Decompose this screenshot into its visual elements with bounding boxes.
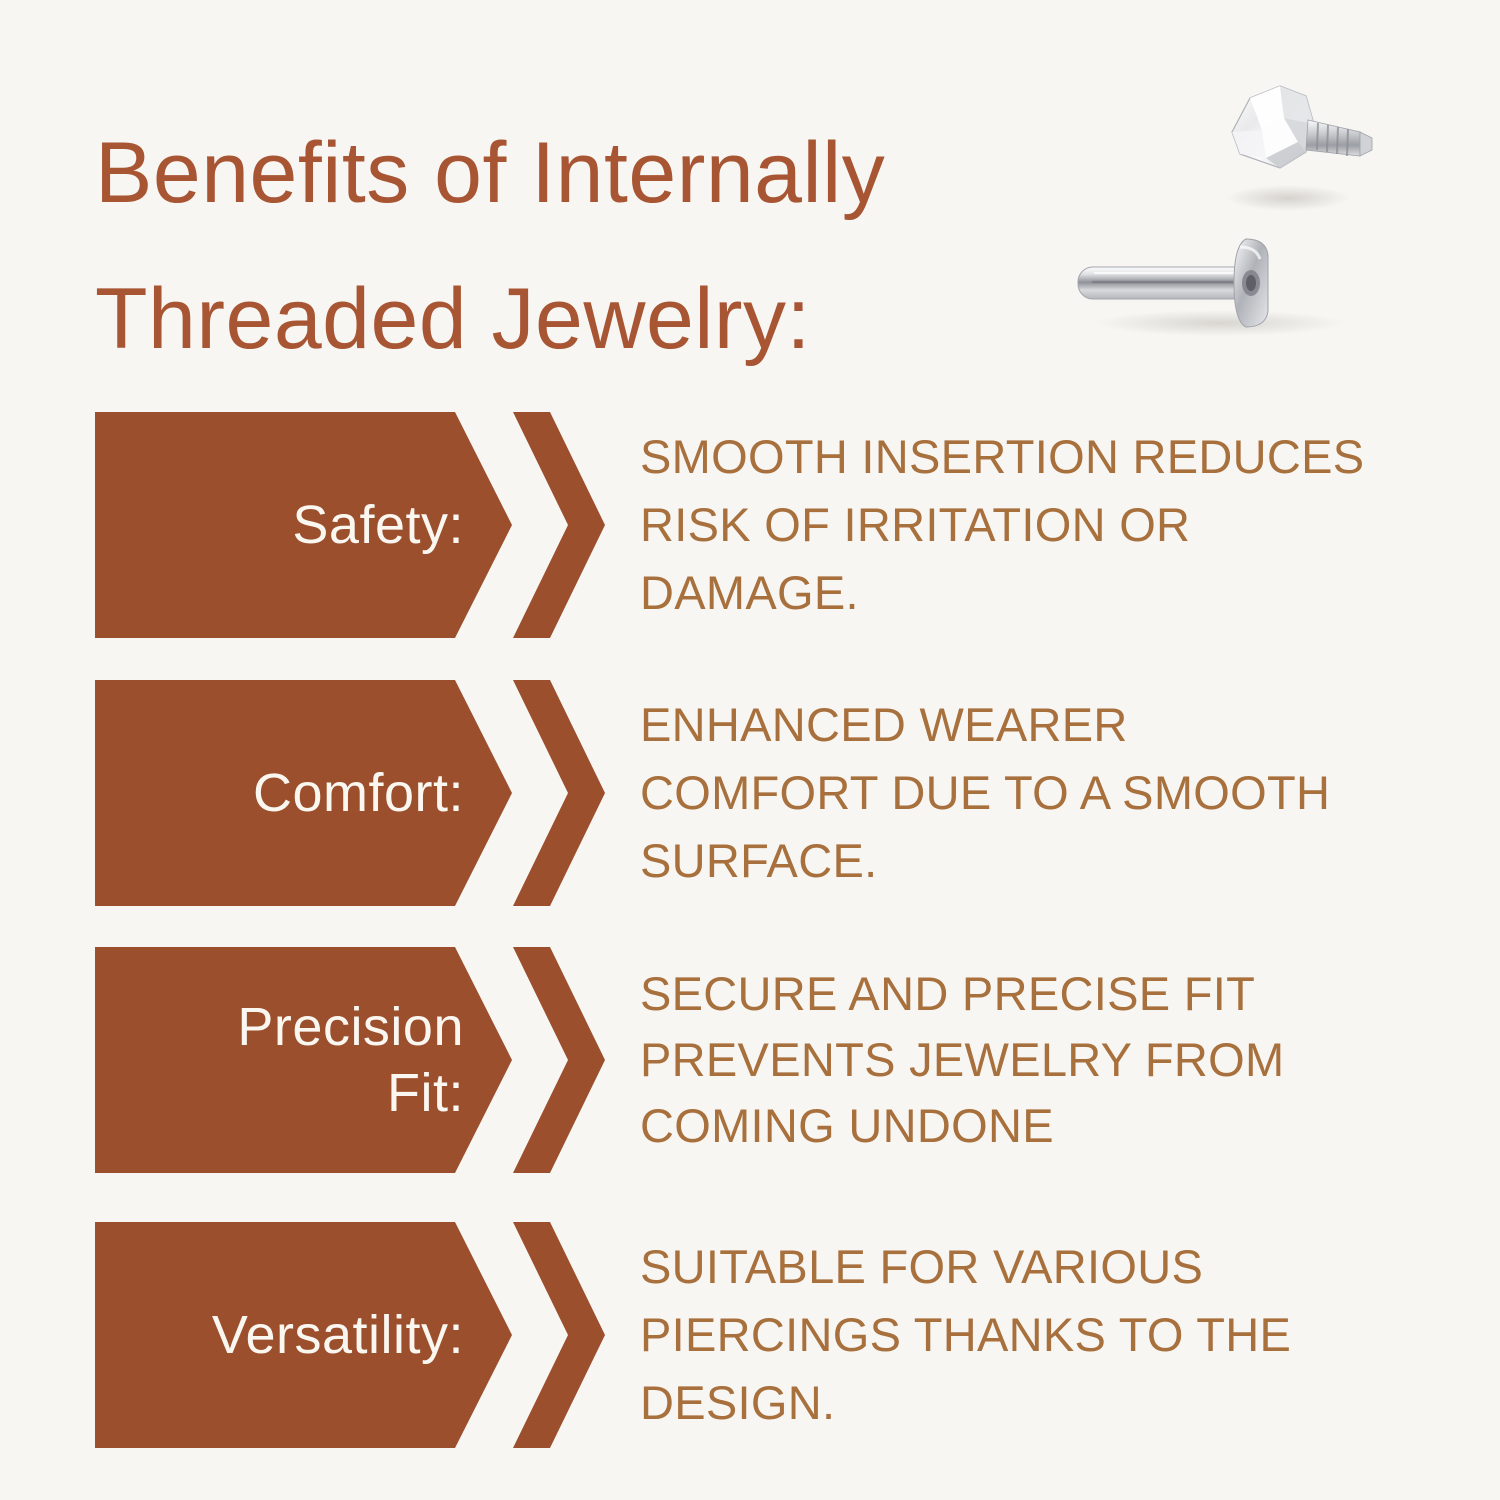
benefit-description-precision-fit: SECURE AND PRECISE FIT PREVENTS JEWELRY … [640, 947, 1470, 1173]
arrow-graphic [95, 947, 605, 1173]
benefit-description-safety: SMOOTH INSERTION REDUCES RISK OF IRRITAT… [640, 412, 1470, 638]
infographic-canvas: Benefits of Internally Threaded Jewelry: [0, 0, 1500, 1500]
arrow-shape-comfort [95, 680, 605, 906]
benefit-row-versatility: Versatility: SUITABLE FOR VARIOUS PIERCI… [0, 1222, 1500, 1448]
benefit-row-safety: Safety: SMOOTH INSERTION REDUCES RISK OF… [0, 412, 1500, 638]
arrow-graphic [95, 680, 605, 906]
arrow-graphic [95, 412, 605, 638]
arrow-shape-safety [95, 412, 605, 638]
flat-back-labret-bar-icon [1070, 225, 1370, 345]
benefit-description-versatility: SUITABLE FOR VARIOUS PIERCINGS THANKS TO… [640, 1222, 1470, 1448]
page-title: Benefits of Internally Threaded Jewelry: [95, 100, 1155, 392]
description-line: SECURE AND PRECISE FIT [640, 961, 1470, 1027]
description-line: SUITABLE FOR VARIOUS [640, 1233, 1470, 1301]
arrow-shape-versatility [95, 1222, 605, 1448]
benefit-description-comfort: ENHANCED WEARER COMFORT DUE TO A SMOOTH … [640, 680, 1470, 906]
jewelry-artwork [1060, 75, 1460, 375]
description-line: COMFORT DUE TO A SMOOTH [640, 759, 1470, 827]
page-title-line-1: Benefits of Internally [95, 100, 1155, 246]
benefit-row-comfort: Comfort: ENHANCED WEARER COMFORT DUE TO … [0, 680, 1500, 906]
description-line: SURFACE. [640, 827, 1470, 895]
arrow-graphic [95, 1222, 605, 1448]
threaded-gem-top-icon [1210, 80, 1380, 220]
description-line: DAMAGE. [640, 559, 1470, 627]
description-line: ENHANCED WEARER [640, 691, 1470, 759]
benefit-row-precision-fit: PrecisionFit: SECURE AND PRECISE FIT PRE… [0, 947, 1500, 1173]
description-line: PIERCINGS THANKS TO THE [640, 1301, 1470, 1369]
arrow-shape-precision-fit [95, 947, 605, 1173]
description-line: RISK OF IRRITATION OR [640, 491, 1470, 559]
description-line: PREVENTS JEWELRY FROM [640, 1027, 1470, 1093]
page-title-line-2: Threaded Jewelry: [95, 246, 1155, 392]
description-line: COMING UNDONE [640, 1093, 1470, 1159]
description-line: SMOOTH INSERTION REDUCES [640, 423, 1470, 491]
description-line: DESIGN. [640, 1369, 1470, 1437]
